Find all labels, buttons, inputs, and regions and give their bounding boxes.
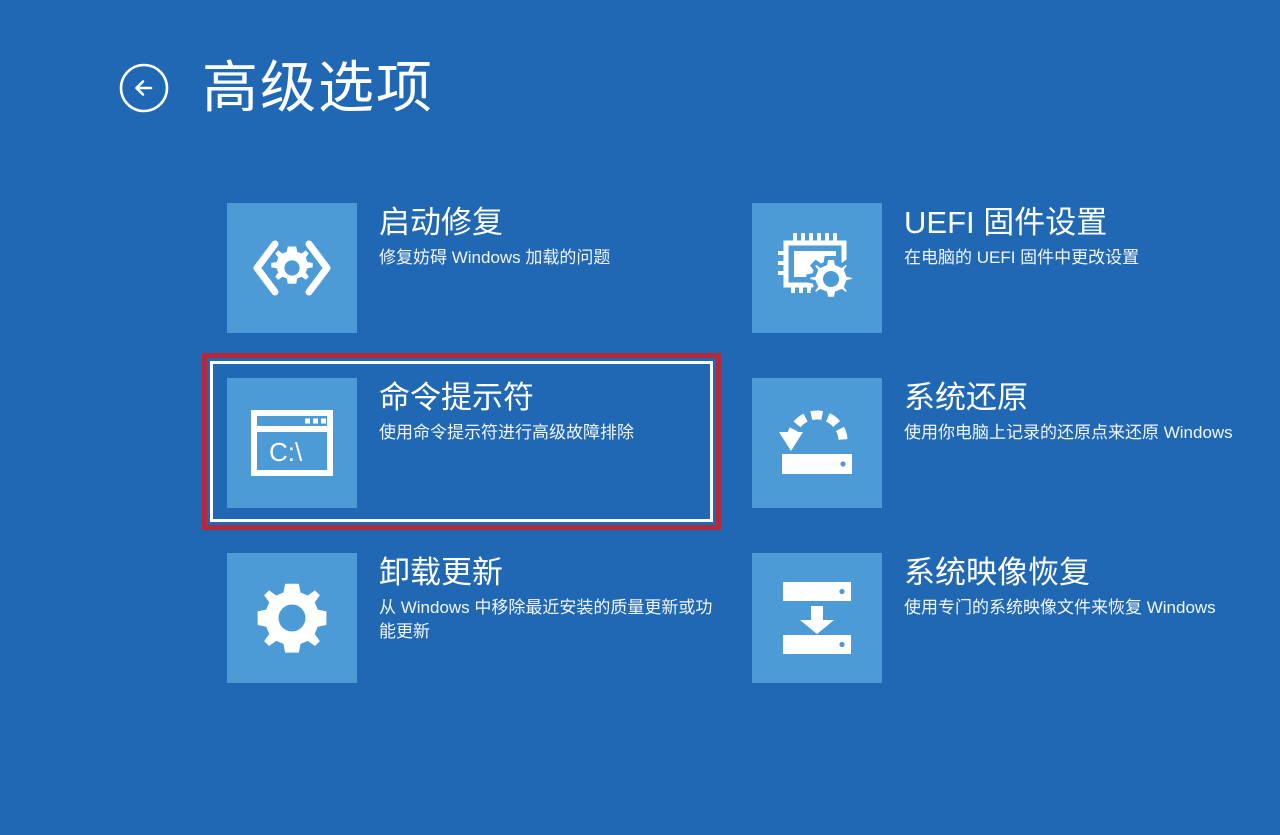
option-text: 系统映像恢复 使用专门的系统映像文件来恢复 Windows (882, 553, 1216, 620)
page-title: 高级选项 (202, 60, 434, 116)
option-title: 命令提示符 (379, 380, 634, 416)
option-description: 修复妨碍 Windows 加载的问题 (379, 246, 610, 270)
tile-row: 启动修复 修复妨碍 Windows 加载的问题 (0, 203, 1280, 378)
back-arrow-circle-icon[interactable] (118, 62, 170, 114)
option-text: 系统还原 使用你电脑上记录的还原点来还原 Windows (882, 378, 1233, 445)
option-title: 卸载更新 (379, 555, 719, 591)
brackets-gear-icon (227, 203, 357, 333)
console-window-icon: C:\ (227, 378, 357, 508)
option-tile-uefi-firmware-settings[interactable]: UEFI 固件设置 在电脑的 UEFI 固件中更改设置 (752, 203, 1244, 333)
option-title: 系统映像恢复 (904, 555, 1216, 591)
option-text: 命令提示符 使用命令提示符进行高级故障排除 (357, 378, 634, 445)
drive-download-icon (752, 553, 882, 683)
option-tile-startup-repair[interactable]: 启动修复 修复妨碍 Windows 加载的问题 (227, 203, 719, 333)
option-title: 启动修复 (379, 205, 610, 241)
option-description: 使用命令提示符进行高级故障排除 (379, 421, 634, 445)
option-description: 在电脑的 UEFI 固件中更改设置 (904, 246, 1139, 270)
option-description: 使用专门的系统映像文件来恢复 Windows (904, 596, 1216, 620)
gear-icon (227, 553, 357, 683)
chip-gear-icon (752, 203, 882, 333)
advanced-options-grid: 启动修复 修复妨碍 Windows 加载的问题 (0, 203, 1280, 728)
option-text: 启动修复 修复妨碍 Windows 加载的问题 (357, 203, 610, 270)
tile-row: 卸载更新 从 Windows 中移除最近安装的质量更新或功能更新 系统映像恢复 (0, 553, 1280, 728)
option-description: 使用你电脑上记录的还原点来还原 Windows (904, 421, 1233, 445)
page-header: 高级选项 (118, 60, 434, 116)
option-tile-system-restore[interactable]: 系统还原 使用你电脑上记录的还原点来还原 Windows (752, 378, 1244, 508)
option-tile-uninstall-updates[interactable]: 卸载更新 从 Windows 中移除最近安装的质量更新或功能更新 (227, 553, 719, 683)
option-tile-system-image-recovery[interactable]: 系统映像恢复 使用专门的系统映像文件来恢复 Windows (752, 553, 1244, 683)
tile-row: C:\ 命令提示符 使用命令提示符进行高级故障排除 (0, 378, 1280, 553)
option-text: 卸载更新 从 Windows 中移除最近安装的质量更新或功能更新 (357, 553, 719, 645)
option-tile-command-prompt[interactable]: C:\ 命令提示符 使用命令提示符进行高级故障排除 (227, 378, 719, 508)
svg-text:C:\: C:\ (269, 437, 303, 467)
option-title: UEFI 固件设置 (904, 205, 1139, 241)
drive-restore-arrow-icon (752, 378, 882, 508)
option-description: 从 Windows 中移除最近安装的质量更新或功能更新 (379, 596, 719, 645)
option-title: 系统还原 (904, 380, 1233, 416)
option-text: UEFI 固件设置 在电脑的 UEFI 固件中更改设置 (882, 203, 1139, 270)
